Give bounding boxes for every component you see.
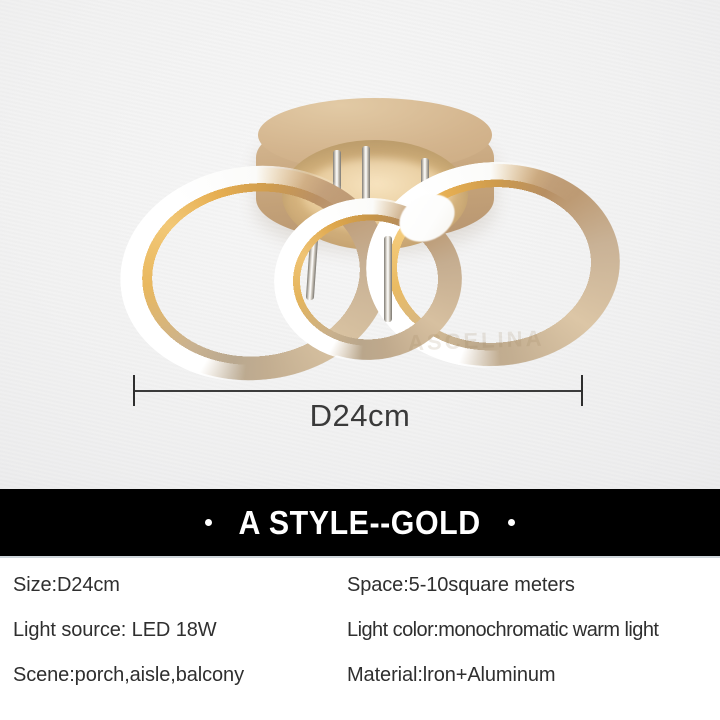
bullet-dot-icon (205, 519, 212, 526)
dimension-label: D24cm (0, 398, 720, 434)
dimension-line-bar (133, 390, 583, 392)
spec-space: Space:5-10square meters (347, 574, 575, 597)
spec-light-source: Light source: LED 18W (13, 619, 217, 642)
spec-light-color: Light color:monochromatic warm light (347, 619, 658, 642)
bullet-dot-icon (508, 519, 515, 526)
spec-list: Size:D24cm Space:5-10square meters Light… (0, 560, 720, 720)
spec-row: Scene:porch,aisle,balcony Material:lron+… (0, 664, 720, 706)
style-banner-title: A STYLE--GOLD (239, 504, 481, 542)
spec-row: Size:D24cm Space:5-10square meters (0, 574, 720, 616)
banner-underline (0, 556, 720, 558)
style-banner: A STYLE--GOLD (0, 489, 720, 556)
spec-material: Material:lron+Aluminum (347, 664, 555, 687)
photo-watermark: ASCELINA (408, 326, 545, 357)
ceiling-lamp-illustration: ASCELINA (0, 0, 720, 420)
spec-row: Light source: LED 18W Light color:monoch… (0, 619, 720, 661)
product-image-page: ASCELINA D24cm A STYLE--GOLD Size:D24cm … (0, 0, 720, 720)
product-photo: ASCELINA D24cm (0, 0, 720, 489)
spec-size: Size:D24cm (13, 574, 120, 597)
spec-scene: Scene:porch,aisle,balcony (13, 664, 244, 687)
